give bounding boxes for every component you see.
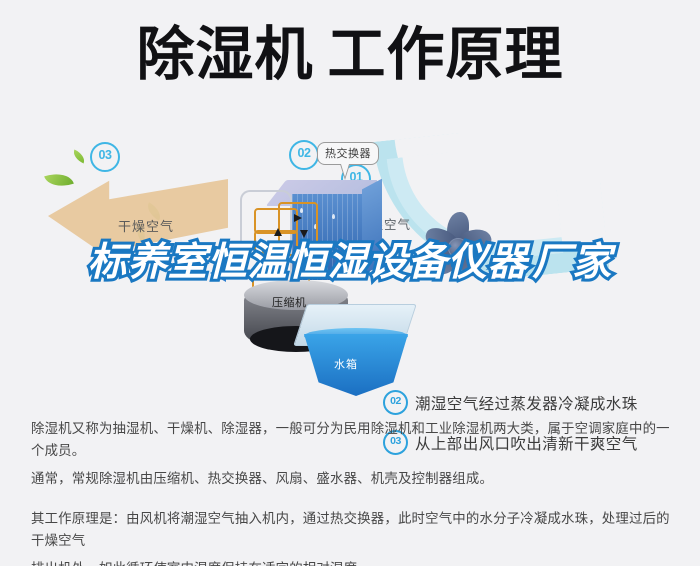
heat-exchanger-callout: 热交换器 bbox=[317, 142, 379, 165]
coil-loop bbox=[278, 202, 318, 260]
dry-air-label: 干燥空气 bbox=[118, 216, 174, 235]
flow-arrow-up-icon bbox=[274, 228, 282, 236]
paragraph-2-line-2: 排出机外，如此循环使室内湿度保持在适宜的相对湿度。 bbox=[31, 558, 671, 566]
condensate-drop bbox=[324, 260, 327, 265]
paragraph-1-line-1: 除湿机又称为抽湿机、干燥机、除湿器，一般可分为民用除湿机和工业除湿机两大类，属于… bbox=[31, 418, 671, 462]
leaf-icon bbox=[71, 150, 87, 164]
paragraph-1-line-2: 通常，常规除湿机由压缩机、热交换器、风扇、盛水器、机壳及控制器组成。 bbox=[31, 468, 671, 490]
legend-badge-02: 02 bbox=[383, 390, 408, 415]
diagram-badge-02: 02 bbox=[289, 140, 319, 170]
dehumidifier-diagram: 干燥空气 03 潮湿空气 01 02 热交换器 bbox=[0, 128, 700, 400]
water-tank-label: 水箱 bbox=[334, 356, 358, 372]
condensate-drop bbox=[342, 240, 345, 245]
page-title: 除湿机工作原理 bbox=[0, 26, 700, 84]
heat-exchanger-side bbox=[362, 179, 382, 276]
flow-arrow-down-icon bbox=[300, 230, 308, 238]
legend-item: 02 潮湿空气经过蒸发器冷凝成水珠 bbox=[383, 390, 683, 415]
body-copy: 除湿机又称为抽湿机、干燥机、除湿器，一般可分为民用除湿机和工业除湿机两大类，属于… bbox=[31, 418, 671, 566]
title-part-1: 除湿机 bbox=[136, 26, 313, 84]
fan-hub bbox=[448, 238, 468, 258]
paragraph-2-line-1: 其工作原理是：由风机将潮湿空气抽入机内，通过热交换器，此时空气中的水分子冷凝成水… bbox=[31, 508, 671, 552]
condensate-drop bbox=[332, 214, 335, 219]
legend-text-02: 潮湿空气经过蒸发器冷凝成水珠 bbox=[415, 392, 638, 414]
compressor-label: 压缩机 bbox=[272, 294, 307, 310]
fan-icon bbox=[418, 208, 496, 282]
poster-root: 除湿机工作原理 干燥空气 03 潮湿空气 01 02 热交换器 bbox=[0, 0, 700, 566]
title-part-2: 工作原理 bbox=[328, 26, 564, 84]
flow-arrow-right-icon bbox=[294, 214, 302, 222]
diagram-badge-03: 03 bbox=[90, 142, 120, 172]
leaf-icon bbox=[44, 168, 74, 191]
intake-arrow-shaft bbox=[224, 270, 246, 278]
